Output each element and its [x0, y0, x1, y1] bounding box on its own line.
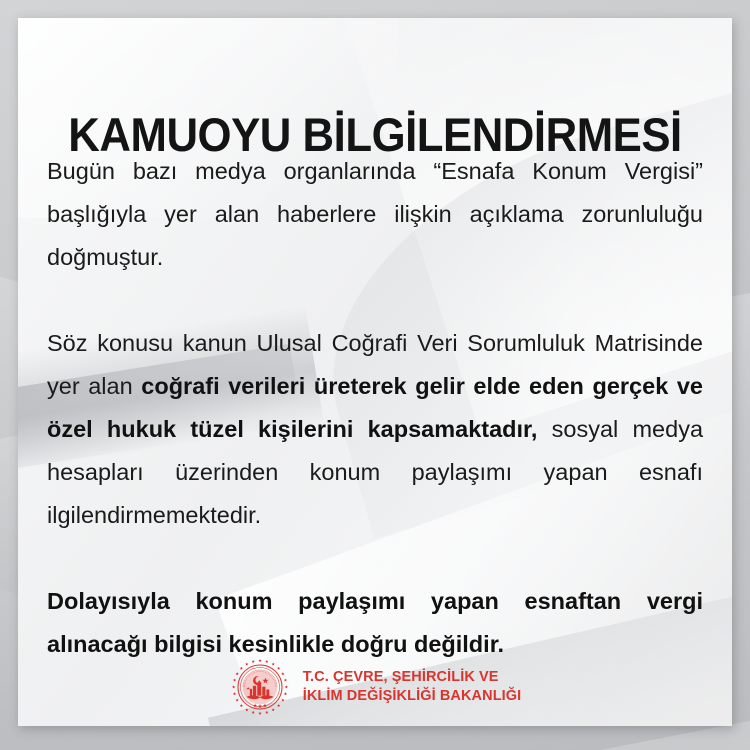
- announcement-poster: KAMUOYU BİLGİLENDİRMESİ Bugün bazı medya…: [0, 0, 750, 750]
- ministry-footer: T.C. ÇEVRE, ŞEHİRCİLİK VE İKLİM DEĞİŞİKL…: [18, 648, 732, 726]
- announcement-card: KAMUOYU BİLGİLENDİRMESİ Bugün bazı medya…: [18, 18, 732, 726]
- ministry-logo: T.C. ÇEVRE, ŞEHİRCİLİK VE İKLİM DEĞİŞİKL…: [229, 656, 522, 718]
- ministry-name-line-1: T.C. ÇEVRE, ŞEHİRCİLİK VE: [303, 668, 522, 687]
- ministry-name-line-2: İKLİM DEĞİŞİKLİĞİ BAKANLIĞI: [303, 687, 522, 706]
- emphasis-text: Dolayısıyla konum paylaşımı yapan esnaft…: [47, 588, 703, 657]
- ministry-name: T.C. ÇEVRE, ŞEHİRCİLİK VE İKLİM DEĞİŞİKL…: [303, 668, 522, 706]
- card-content: KAMUOYU BİLGİLENDİRMESİ Bugün bazı medya…: [18, 18, 732, 726]
- paragraph-2: Söz konusu kanun Ulusal Coğrafi Veri Sor…: [47, 322, 703, 537]
- paragraph-1: Bugün bazı medya organlarında “Esnafa Ko…: [47, 150, 703, 279]
- announcement-body: Bugün bazı medya organlarında “Esnafa Ko…: [47, 150, 703, 666]
- turkish-ministry-emblem-icon: [229, 656, 291, 718]
- body-text: Bugün bazı medya organlarında “Esnafa Ko…: [47, 158, 703, 270]
